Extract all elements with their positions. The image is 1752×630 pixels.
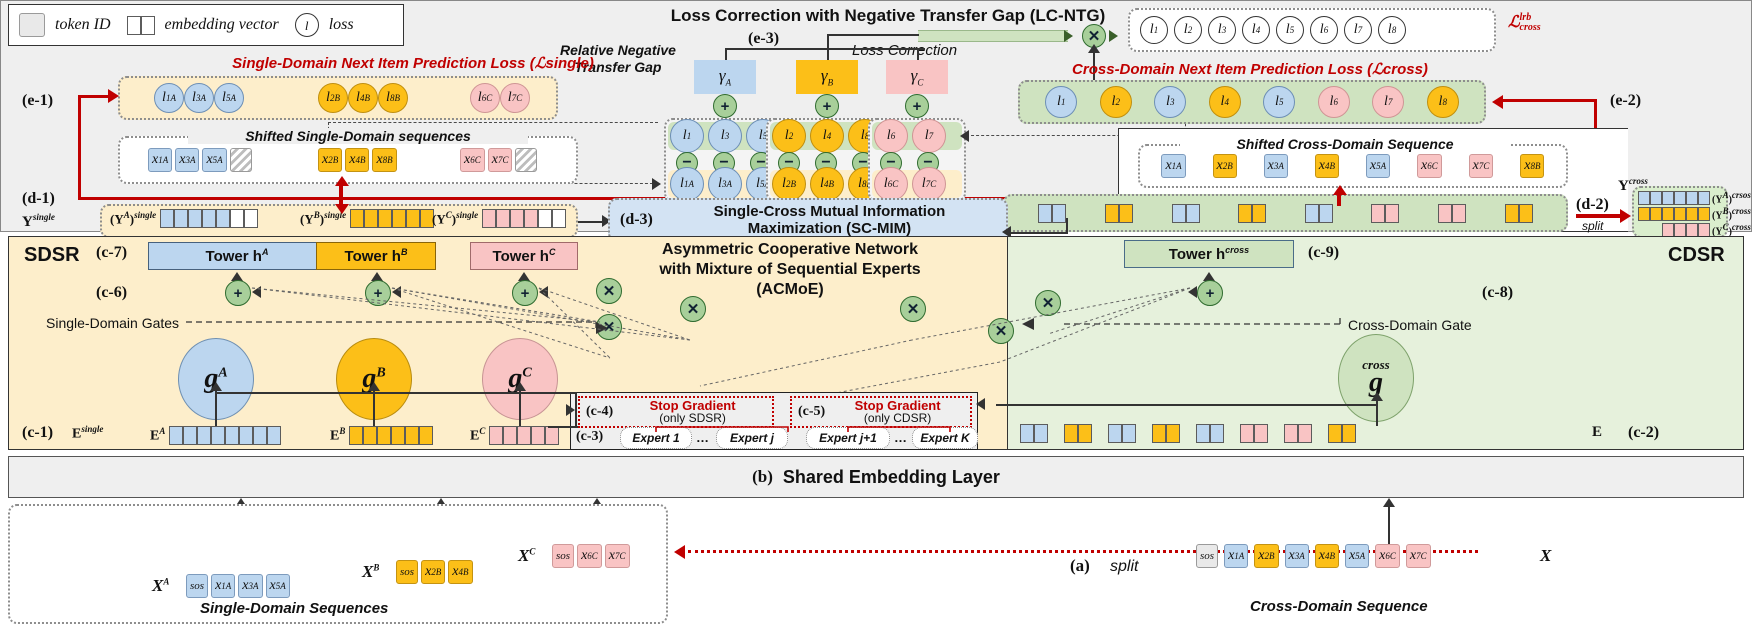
- tag-c8: (c-8): [1482, 284, 1513, 302]
- EB-label: E: [330, 429, 339, 444]
- input-token: x1A: [211, 574, 235, 598]
- gamma-C-plus-icon: +: [905, 94, 929, 118]
- gamma-B-box: γB: [796, 60, 858, 94]
- input-token: x7C: [1406, 544, 1431, 568]
- legend-embedding-label: embedding vector: [165, 16, 279, 34]
- corrected-loss-row: l1 l2 l3 l4 l5 l6 l7 l8: [1128, 8, 1496, 52]
- YB-single-label: (Y: [300, 211, 314, 226]
- cross-loss-title-text: Cross-Domain Next Item Prediction Loss (…: [1072, 61, 1428, 78]
- E-single-to-experts-h: [548, 426, 578, 428]
- ntg-single-loss: l6C: [874, 167, 908, 201]
- ntg-B-single-losses: l2B l4B l8B: [772, 167, 882, 201]
- cross-emb-pair: [1105, 204, 1133, 223]
- E-cross-pair: [1328, 424, 1356, 443]
- d1-double-arrow-dn: [335, 204, 349, 214]
- only-sdsr-label: (only SDSR): [613, 412, 772, 425]
- YcrossB-label: (Y: [1712, 210, 1723, 221]
- tag-e2: (e-2): [1610, 92, 1641, 110]
- single-loss-title: Single-Domain Next Item Prediction Loss …: [178, 54, 648, 72]
- d2-split-arrow: [1620, 209, 1631, 223]
- input-token: x4B: [448, 560, 472, 584]
- sum-A-in-arrow: [252, 286, 261, 298]
- input-token: x5A: [266, 574, 290, 598]
- corrected-loss-item: l8: [1378, 16, 1406, 44]
- cross-emb-pair: [1438, 204, 1466, 223]
- YcrossB-cells: [1638, 207, 1710, 221]
- cross-domain-sequence-caption: Cross-Domain Sequence: [1250, 598, 1428, 615]
- input-token: x6C: [577, 544, 602, 568]
- tower-hC-label: Tower h: [493, 248, 549, 265]
- tag-b: (b): [752, 467, 773, 487]
- X-to-shared-line: [1388, 506, 1390, 546]
- ntg-B-cross-losses: l2 l4 l8: [772, 119, 882, 153]
- E-single-symbol: E: [72, 427, 81, 442]
- XC-label: XC: [518, 546, 535, 566]
- tower-hA[interactable]: Tower hA: [148, 242, 326, 270]
- tag-c3: (c-3): [576, 429, 603, 445]
- shifted-token: x5A: [202, 148, 226, 172]
- shared-embedding-label: Shared Embedding Layer: [783, 467, 1000, 488]
- ntg-single-loss: l3A: [708, 167, 742, 201]
- EC-to-gate-line: [519, 390, 521, 426]
- single-loss-item: l3A: [184, 83, 214, 113]
- shifted-cross-token: x2B: [1213, 154, 1237, 178]
- split-label: split: [1110, 558, 1138, 576]
- single-domain-sequences-caption: Single-Domain Sequences: [200, 600, 388, 617]
- Y-single-B: (YB)single: [300, 209, 434, 228]
- EB-to-gate-arrow: [368, 382, 380, 391]
- YC-single-label: (Y: [432, 211, 446, 226]
- sos-token: sos: [552, 544, 574, 568]
- E-cross-pair: [1284, 424, 1312, 443]
- expert-ellipsis-left: …: [696, 430, 709, 445]
- ntg-single-loss: l2B: [772, 167, 806, 201]
- expert-K[interactable]: Expert K: [912, 427, 978, 449]
- cross-loss-item: l1: [1045, 86, 1077, 118]
- ntg-single-loss: l4B: [810, 167, 844, 201]
- tag-d2: (d-2): [1576, 196, 1609, 214]
- d1-double-arrow-stem: [339, 184, 343, 206]
- X-tokens: sos x1A x2B x3A x4B x5A x6C x7C: [1196, 544, 1431, 568]
- cross-emb-pair: [1038, 204, 1066, 223]
- shifted-cross-token: x1A: [1161, 154, 1185, 178]
- sum-node-cross: +: [1197, 280, 1223, 306]
- corrected-loss-item: l4: [1242, 16, 1270, 44]
- tower-hB[interactable]: Tower hB: [316, 242, 436, 270]
- XA-symbol: X: [152, 576, 163, 595]
- shifted-token: x1A: [148, 148, 172, 172]
- shifted-cross-token: x8B: [1520, 154, 1544, 178]
- legend-token-id-label: token ID: [55, 16, 111, 34]
- ntg-single-loss: l1A: [670, 167, 704, 201]
- ntg-C-single-losses: l6C l7C: [874, 167, 946, 201]
- tag-e1: (e-1): [22, 92, 53, 110]
- YA-single-label: (Y: [110, 211, 124, 226]
- loss-correction-bar: [918, 30, 1068, 42]
- acmoe-title: Asymmetric Cooperative Network with Mixt…: [580, 240, 1000, 300]
- mul-node-4: ✕: [1035, 290, 1061, 316]
- cdsr-label: CDSR: [1668, 244, 1725, 267]
- input-token: x3A: [1285, 544, 1309, 568]
- X-to-shared-arrow: [1383, 498, 1395, 507]
- Y-single-A: (YA)single: [110, 209, 258, 228]
- E-A-group: EA: [150, 426, 281, 445]
- gamma-B-sub: B: [828, 78, 834, 88]
- ntg-cross-loss: l3: [708, 119, 742, 153]
- ntg-single-feed-arrow: [652, 178, 661, 190]
- YcrossA-cells: [1638, 191, 1710, 205]
- gamma-C-sub: C: [917, 78, 923, 88]
- Y-cross-sup: cross: [1629, 176, 1648, 186]
- acmoe-line2: with Mixture of Sequential Experts: [580, 260, 1000, 280]
- Ecross-to-gate-line: [1376, 400, 1378, 426]
- mul-node-1: ✕: [596, 278, 622, 304]
- single-loss-title-text: Single-Domain Next Item Prediction Loss …: [232, 55, 594, 72]
- E-plain-label: E: [1592, 424, 1602, 441]
- d2-split-arrow-line: [1576, 214, 1622, 218]
- ntg-cross-loss: l1: [670, 119, 704, 153]
- shifted-token: x7C: [488, 148, 513, 172]
- gamma-A-sub: A: [726, 78, 732, 88]
- shifted-token: x3A: [175, 148, 199, 172]
- token-id-swatch: [19, 13, 45, 37]
- corrected-loss-item: l2: [1174, 16, 1202, 44]
- EA-label: E: [150, 429, 159, 444]
- single-loss-item: l4B: [348, 83, 378, 113]
- gamma-C-box: γC: [886, 60, 948, 94]
- ntg-cross-loss: l4: [810, 119, 844, 153]
- shifted-cross-token: x7C: [1469, 154, 1494, 178]
- single-loss-item: l2B: [318, 83, 348, 113]
- sos-token: sos: [186, 574, 208, 598]
- E-cross-pair: [1108, 424, 1136, 443]
- shifted-token: x8B: [372, 148, 396, 172]
- XB-symbol: X: [362, 562, 373, 581]
- single-domain-gates-label: Single-Domain Gates: [46, 315, 179, 331]
- tag-c9: (c-9): [1308, 244, 1339, 262]
- sos-token: sos: [396, 560, 418, 584]
- ntg-cross-loss: l7: [912, 119, 946, 153]
- cross-loss-item: l7: [1372, 86, 1404, 118]
- sdsr-label: SDSR: [24, 244, 80, 267]
- cross-loss-item: l2: [1100, 86, 1132, 118]
- single-loss-item: l7C: [500, 83, 530, 113]
- E-single-bus: [215, 392, 575, 394]
- tag-c2: (c-2): [1628, 424, 1659, 442]
- ntg-single-loss: l7C: [912, 167, 946, 201]
- single-loss-item: l1A: [154, 83, 184, 113]
- input-token: x7C: [605, 544, 630, 568]
- input-token: x6C: [1375, 544, 1400, 568]
- EA-to-gate-line: [215, 390, 217, 426]
- input-token: x1A: [1224, 544, 1248, 568]
- EC-cells: [489, 426, 559, 445]
- gamma-A-symbol: γ: [719, 66, 726, 85]
- ntg-cross-loss: l2: [772, 119, 806, 153]
- e2-red-arrow: [1492, 95, 1503, 109]
- Ycross-A-row: (YA)crsos: [1638, 190, 1751, 205]
- e1-red-path-h: [78, 95, 110, 98]
- loss-swatch: l: [295, 13, 319, 37]
- YcrossA-label: (Y: [1712, 194, 1723, 205]
- EC-to-gate-arrow: [514, 382, 526, 391]
- E-cross-pair: [1240, 424, 1268, 443]
- corrected-loss-item: l5: [1276, 16, 1304, 44]
- Y-single-sup: single: [33, 212, 55, 222]
- ntg-C-cross-losses: l6 l7: [874, 119, 946, 153]
- expert-j-plus-1[interactable]: Expert j+1: [806, 427, 890, 449]
- E-cross-pair: [1020, 424, 1048, 443]
- EB-to-gate-line: [373, 390, 375, 426]
- YB-single-cells: [350, 209, 434, 228]
- lcntg-title: Loss Correction with Negative Transfer G…: [578, 6, 1198, 26]
- E-single-label: Esingle: [72, 424, 103, 443]
- shifted-cross-token: x4B: [1315, 154, 1339, 178]
- sum-node-A: +: [225, 280, 251, 306]
- scmim-line2: Maximization (SC-MIM): [653, 220, 1006, 237]
- to-corrected-losses-arrow: [1109, 30, 1118, 42]
- stop-gradient-sdsr-box: (c-4) Stop Gradient (only SDSR): [578, 396, 774, 428]
- scmim-line1: Single-Cross Mutual Information: [653, 203, 1006, 220]
- mul-node-5: ✕: [900, 296, 926, 322]
- gamma-B-symbol: γ: [821, 66, 828, 85]
- shifted-single-A: x1A x3A x5A: [148, 148, 252, 172]
- e1-red-arrow: [108, 89, 119, 103]
- tower-hcross[interactable]: Tower hcross: [1124, 240, 1294, 268]
- sum-node-B: +: [365, 280, 391, 306]
- cross-domain-loss-row: l1 l2 l3 l4 l5 l6 l7 l8: [1018, 80, 1486, 124]
- only-cdsr-label: (only CDSR): [825, 412, 970, 425]
- input-token: x2B: [421, 560, 445, 584]
- legend-loss-label: loss: [329, 16, 354, 34]
- shifted-cross-token: x3A: [1264, 154, 1288, 178]
- shifted-token-pad: [230, 148, 252, 172]
- acmoe-line3: (ACMoE): [580, 280, 1000, 300]
- EA-cells: [169, 426, 281, 445]
- Y-cross-symbol: Y: [1618, 178, 1629, 194]
- E-C-group: EC: [470, 426, 559, 445]
- expert-1[interactable]: Expert 1: [620, 427, 692, 449]
- gamma-C-stem: [917, 48, 919, 60]
- shifted-token: x2B: [318, 148, 342, 172]
- gamma-B-plus-icon: +: [815, 94, 839, 118]
- e1-red-path-v: [78, 95, 81, 200]
- XB-tokens: sos x2B x4B: [396, 560, 473, 584]
- XA-tokens: sos x1A x3A x5A: [186, 574, 290, 598]
- cross-loss-item: l8: [1427, 86, 1459, 118]
- XA-label: XA: [152, 576, 169, 596]
- cross-loss-item: l3: [1154, 86, 1186, 118]
- YC-single-cells: [482, 209, 566, 228]
- d2-split-label: split: [1582, 219, 1603, 233]
- single-loss-item: l6C: [470, 83, 500, 113]
- tag-d3: (d-3): [620, 211, 653, 229]
- X-label: X: [1540, 546, 1551, 566]
- shifted-token: x6C: [460, 148, 485, 172]
- embedding-vector-swatch: [127, 16, 155, 35]
- lrb-symbol: ℒ: [1508, 14, 1520, 31]
- cross-emb-pair: [1238, 204, 1266, 223]
- gamma-A-stem: [725, 48, 727, 60]
- corrected-loss-item: l7: [1344, 16, 1372, 44]
- cross-emb-pair: [1505, 204, 1533, 223]
- tag-c1: (c-1): [22, 424, 53, 442]
- cross-emb-pair: [1371, 204, 1399, 223]
- shifted-cross-title: Shifted Cross-Domain Sequence: [1180, 136, 1510, 152]
- sum-node-C: +: [512, 280, 538, 306]
- ntg-cross-feed-arrow: [960, 130, 969, 142]
- corrected-loss-item: l6: [1310, 16, 1338, 44]
- corrected-loss-item: l3: [1208, 16, 1236, 44]
- cross-embedding-row: [1003, 194, 1568, 232]
- e2-red-h: [1503, 99, 1597, 102]
- input-token: x2B: [1254, 544, 1278, 568]
- E-single-to-experts-arrow: [566, 404, 575, 416]
- cross-loss-item: l4: [1209, 86, 1241, 118]
- tag-c6: (c-6): [96, 284, 127, 302]
- shifted-cross-token: x5A: [1366, 154, 1390, 178]
- cross-domain-gate-label: Cross-Domain Gate: [1348, 317, 1472, 333]
- Ycross-B-row: (YB)cross: [1638, 206, 1751, 221]
- tag-e3: (e-3): [748, 30, 779, 48]
- loss-correction-arrow: [1064, 30, 1073, 42]
- EC-label: E: [470, 429, 479, 444]
- d2-double-arrow-stem: [1337, 192, 1341, 206]
- tower-hB-label: Tower h: [345, 248, 401, 265]
- E-cross-pair: [1152, 424, 1180, 443]
- mul-node-6: ✕: [988, 318, 1014, 344]
- input-token: x5A: [1345, 544, 1369, 568]
- XB-label: XB: [362, 562, 379, 582]
- gamma-to-correction: [827, 34, 919, 36]
- tag-c5: (c-5): [798, 404, 825, 420]
- single-domain-loss-row: l1A l3A l5A l2B l4B l8B l6C l7C: [118, 76, 558, 120]
- single-loss-item: l8B: [378, 83, 408, 113]
- tag-d1: (d-1): [22, 190, 55, 208]
- cross-loss-item: l6: [1318, 86, 1350, 118]
- acmoe-line1: Asymmetric Cooperative Network: [580, 240, 1000, 260]
- E-cross-row: [1020, 424, 1356, 443]
- ntg-cross-loss: l6: [874, 119, 908, 153]
- tag-c7: (c-7): [96, 244, 127, 262]
- shifted-token: x4B: [345, 148, 369, 172]
- corrected-loss-item: l1: [1140, 16, 1168, 44]
- sum-C-in-arrow: [539, 286, 548, 298]
- lrb-sub: cross: [1520, 23, 1541, 33]
- tower-hC[interactable]: Tower hC: [470, 242, 578, 270]
- shifted-single-title: Shifted Single-Domain sequences: [188, 128, 528, 144]
- single-loss-item: l5A: [214, 83, 244, 113]
- gamma-A-plus-icon: +: [713, 94, 737, 118]
- cross-loss-item: l5: [1263, 86, 1295, 118]
- loss-lrb-cross-label: ℒ lrb cross: [1508, 12, 1541, 33]
- expert-j[interactable]: Expert j: [716, 427, 788, 449]
- cross-emb-pair: [1305, 204, 1333, 223]
- YcrossC-cells: [1662, 223, 1710, 237]
- ntg-A-cross-losses: l1 l3 l5: [670, 119, 780, 153]
- EA-to-gate-arrow: [210, 382, 222, 391]
- shifted-single-C: x6C x7C: [460, 148, 537, 172]
- input-token: x4B: [1315, 544, 1339, 568]
- gamma-A-box: γA: [694, 60, 756, 94]
- loss-correction-label: Loss Correction: [852, 42, 957, 59]
- Y-single-label: Ysingle: [22, 212, 55, 231]
- expert-ellipsis-right: …: [894, 430, 907, 445]
- sum-cross-in-arrow: [1188, 286, 1197, 298]
- YA-single-cells: [160, 209, 258, 228]
- E-single-to-experts: [575, 392, 577, 426]
- tag-a: (a): [1070, 556, 1090, 576]
- mul-node-3: ✕: [596, 314, 622, 340]
- shifted-token-pad: [515, 148, 537, 172]
- shifted-cross-token: x6C: [1417, 154, 1442, 178]
- EB-cells: [349, 426, 433, 445]
- E-B-group: EB: [330, 426, 433, 445]
- ycross-to-scmim: [1008, 232, 1068, 234]
- legend-box: token ID embedding vector l loss: [8, 4, 404, 46]
- shared-embedding-layer: (b) Shared Embedding Layer: [8, 456, 1744, 498]
- ycross-to-scmim-v: [1066, 218, 1068, 234]
- Ecross-to-gate-arrow: [1371, 392, 1383, 401]
- Ecross-to-experts-arrow: [976, 398, 985, 410]
- corrected-loss-sub: 1: [1154, 26, 1159, 35]
- split-arrow-head: [674, 545, 685, 559]
- sum-B-in-arrow: [392, 286, 401, 298]
- sos-token: sos: [1196, 544, 1218, 568]
- mul-node-2: ✕: [680, 296, 706, 322]
- cross-loss-title: Cross-Domain Next Item Prediction Loss (…: [1000, 60, 1500, 78]
- stop-gradient-cdsr-box: (c-5) Stop Gradient (only CDSR): [790, 396, 972, 428]
- gamma-B-stem: [827, 34, 829, 60]
- tower-hcross-label: Tower h: [1169, 246, 1225, 263]
- Ecross-to-experts-h: [996, 404, 1376, 406]
- ntg-A-single-losses: l1A l3A l5A: [670, 167, 780, 201]
- cross-emb-pair: [1172, 204, 1200, 223]
- shifted-single-B: x2B x4B x8B: [318, 148, 397, 172]
- E-cross-pair: [1196, 424, 1224, 443]
- input-token: x3A: [238, 574, 262, 598]
- XC-symbol: X: [518, 546, 529, 565]
- Y-single-C: (YC)single: [432, 209, 566, 228]
- tower-hA-label: Tower h: [206, 248, 262, 265]
- gamma-bus: [725, 48, 925, 50]
- tag-c4: (c-4): [586, 404, 613, 420]
- E-cross-pair: [1064, 424, 1092, 443]
- Y-single-symbol: Y: [22, 214, 33, 230]
- XC-tokens: sos x6C x7C: [552, 544, 630, 568]
- correction-feed-arrow: [1088, 44, 1100, 53]
